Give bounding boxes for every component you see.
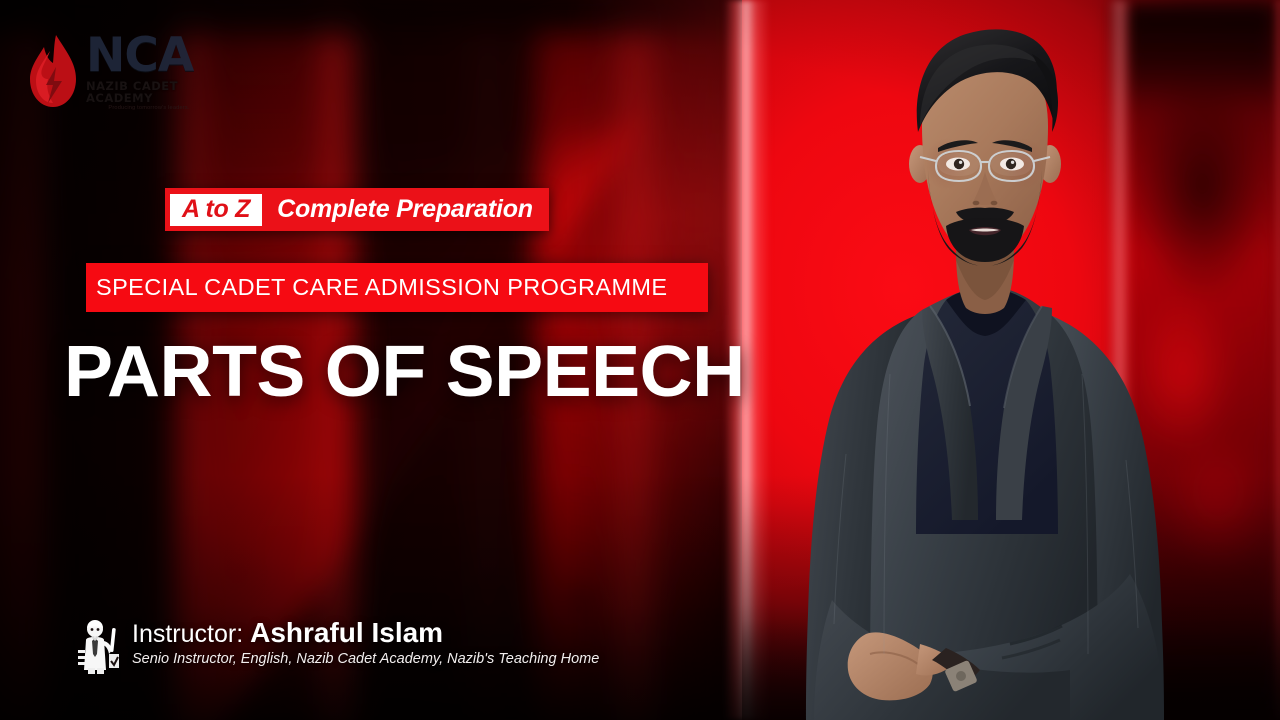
instructor-portrait: [770, 14, 1200, 720]
badge-complete-preparation: A to Z Complete Preparation: [165, 188, 549, 231]
badge-chip-a-to-z: A to Z: [170, 194, 262, 226]
instructor-role-label: Instructor:: [132, 620, 243, 648]
logo-tagline: Producing tomorrow's leaders.: [86, 106, 212, 112]
instructor-name: Ashraful Islam: [250, 617, 443, 648]
logo-academy-name: NAZIB CADET ACADEMY: [86, 81, 212, 104]
instructor-lines: Instructor: Ashraful Islam Senio Instruc…: [132, 618, 599, 667]
page-title: PARTS OF SPEECH: [64, 336, 745, 408]
thumbnail-canvas: NCA NAZIB CADET ACADEMY Producing tomorr…: [0, 0, 1280, 720]
badge-prep-label: Complete Preparation: [277, 195, 533, 224]
logo-acronym: NCA: [86, 32, 212, 79]
instructor-credentials: Senio Instructor, English, Nazib Cadet A…: [132, 651, 599, 667]
brand-logo[interactable]: NCA NAZIB CADET ACADEMY Producing tomorr…: [26, 22, 212, 122]
logo-wordmark: NCA NAZIB CADET ACADEMY Producing tomorr…: [86, 32, 212, 112]
badge-programme-label: SPECIAL CADET CARE ADMISSION PROGRAMME: [96, 274, 667, 301]
instructor-name-line: Instructor: Ashraful Islam: [132, 618, 599, 648]
teacher-icon: [78, 620, 124, 674]
badge-programme: SPECIAL CADET CARE ADMISSION PROGRAMME: [86, 263, 708, 312]
flame-icon: [26, 33, 80, 111]
instructor-credit: Instructor: Ashraful Islam Senio Instruc…: [78, 618, 599, 674]
